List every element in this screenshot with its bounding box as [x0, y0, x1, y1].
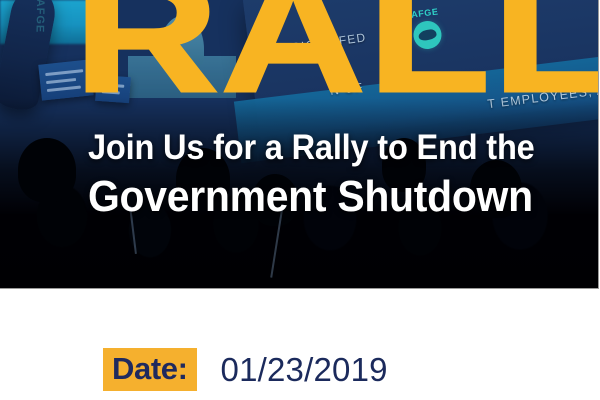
event-date-row: Date: 01/23/2019	[103, 348, 388, 391]
date-value: 01/23/2019	[221, 353, 388, 386]
hero-image: AFGE ERICAN FED N OF T EMPLOYEES, AFL-C …	[0, 0, 599, 289]
hero-headline-line-2: Government Shutdown	[88, 173, 533, 221]
flag-logo-text: AFGE	[34, 0, 47, 33]
date-label: Date:	[103, 348, 197, 391]
rally-wordmark: RALLY	[74, 0, 599, 116]
rally-flyer-page: AFGE ERICAN FED N OF T EMPLOYEES, AFL-C …	[0, 0, 600, 400]
placard-text-line	[46, 78, 76, 84]
crowd-head	[18, 138, 76, 202]
hero-headline-line-1: Join Us for a Rally to End the	[88, 129, 535, 167]
